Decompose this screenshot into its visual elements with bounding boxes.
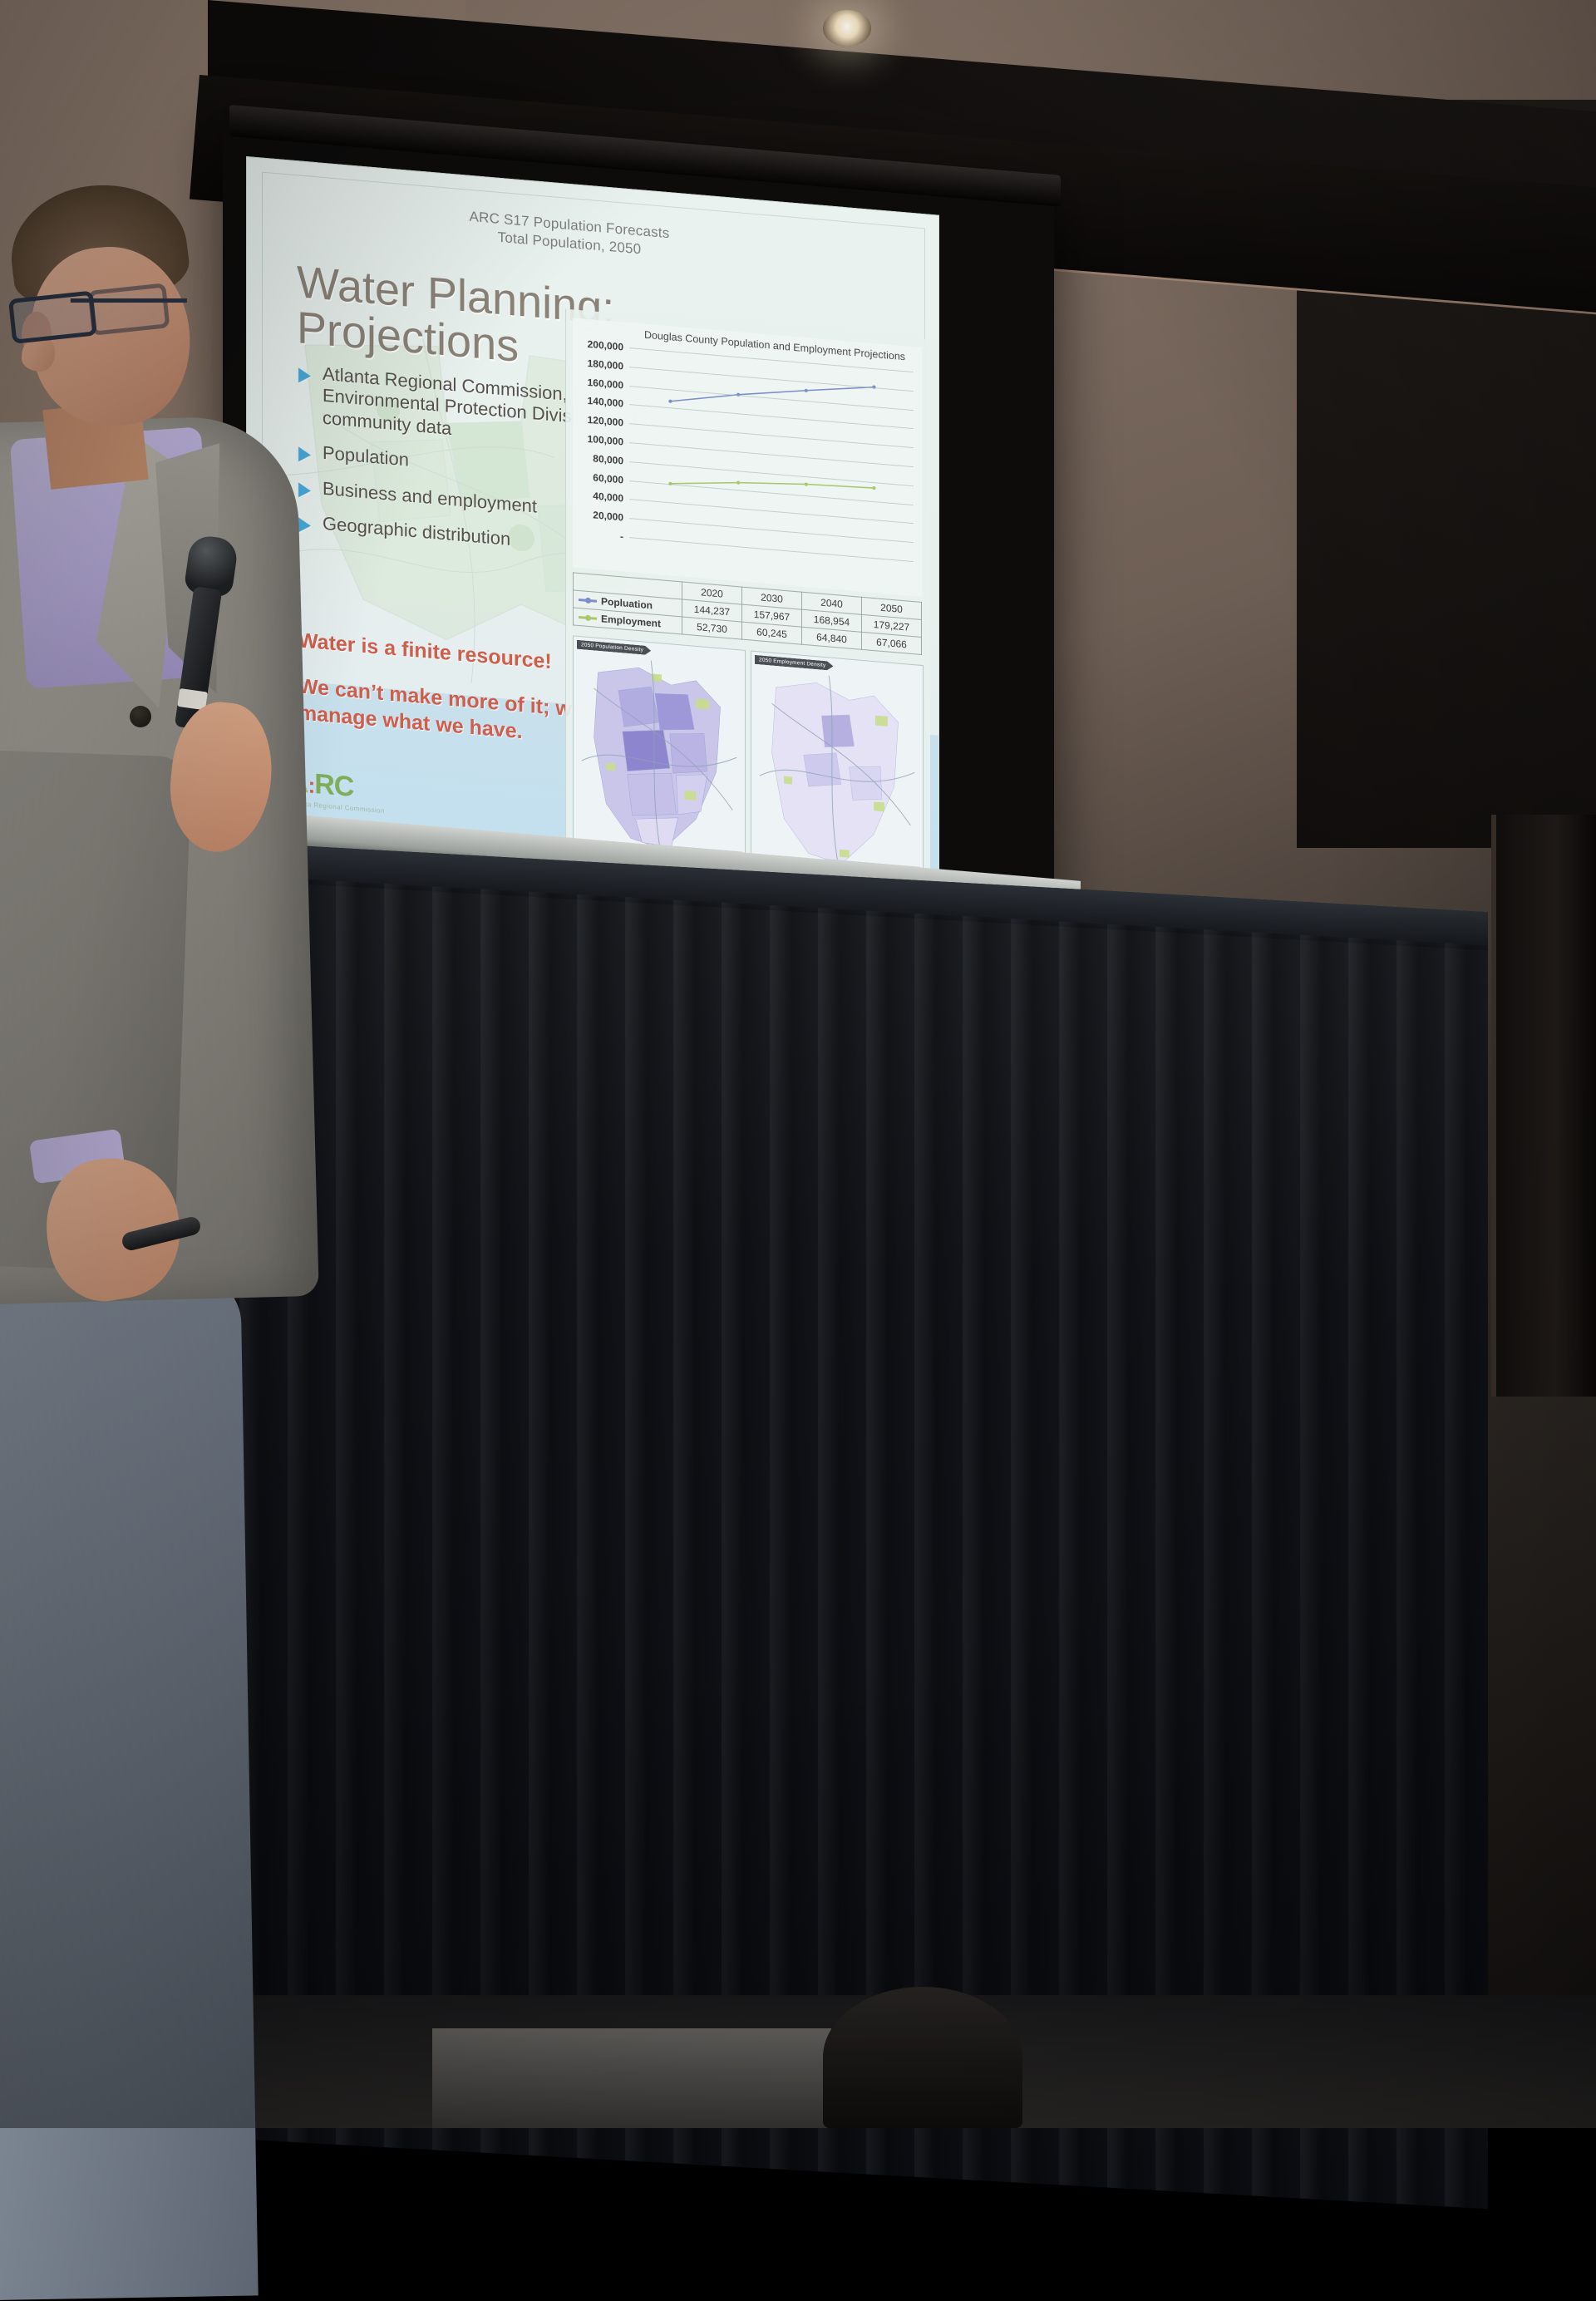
chart-y-tick-label: 60,000 <box>593 471 623 485</box>
chart-data-point <box>668 399 672 403</box>
projection-chart: Douglas County Population and Employment… <box>573 318 922 597</box>
chart-data-point <box>805 482 808 486</box>
chart-plot-area: 200,000180,000160,000140,000120,000100,0… <box>629 347 914 561</box>
chart-y-tick-label: 80,000 <box>593 452 623 466</box>
slide-header: ARC S17 Population Forecasts Total Popul… <box>395 201 744 267</box>
chart-y-tick-label: 20,000 <box>593 510 623 524</box>
chart-y-tick-label: 180,000 <box>588 357 623 372</box>
employment-map-graphic <box>751 652 923 886</box>
chart-y-tick-label: 120,000 <box>588 414 623 429</box>
slide-right-panel: Douglas County Population and Employment… <box>565 309 930 875</box>
chair <box>823 1987 1022 2128</box>
right-doorway <box>1491 815 1596 1397</box>
chart-data-point <box>872 486 875 490</box>
presenter <box>0 170 432 2132</box>
chart-y-tick-label: - <box>620 530 623 542</box>
employment-density-map: 2050 Employment Density <box>751 651 924 886</box>
jacket-button <box>130 706 151 727</box>
line-marker-icon <box>579 616 597 620</box>
presenter-trousers <box>0 1274 259 2301</box>
foreground-table <box>432 2028 831 2128</box>
chart-y-tick-label: 160,000 <box>588 376 623 391</box>
chart-data-point <box>736 480 740 485</box>
ceiling-light-icon <box>823 10 871 47</box>
chart-data-point <box>805 389 808 393</box>
chart-y-tick-label: 40,000 <box>593 490 623 505</box>
chart-y-tick-label: 140,000 <box>588 395 623 410</box>
chart-y-tick-label: 200,000 <box>588 338 623 353</box>
line-marker-icon <box>579 599 597 603</box>
chart-y-tick-label: 100,000 <box>588 433 623 448</box>
